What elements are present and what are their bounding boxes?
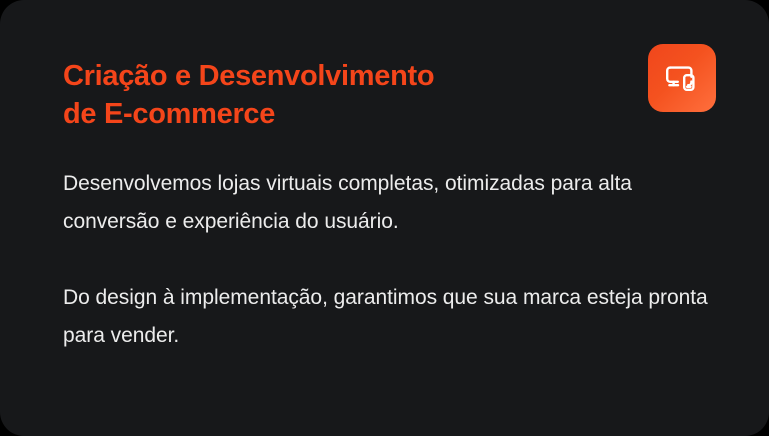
card-paragraph: Do design à implementação, garantimos qu…	[63, 279, 713, 355]
card-body: Desenvolvemos lojas virtuais completas, …	[63, 165, 713, 355]
responsive-devices-icon	[664, 60, 700, 96]
icon-badge	[648, 44, 716, 112]
service-card: Criação e Desenvolvimento de E-commerce …	[0, 0, 769, 436]
card-heading: Criação e Desenvolvimento de E-commerce	[63, 57, 623, 133]
card-paragraph: Desenvolvemos lojas virtuais completas, …	[63, 165, 713, 241]
